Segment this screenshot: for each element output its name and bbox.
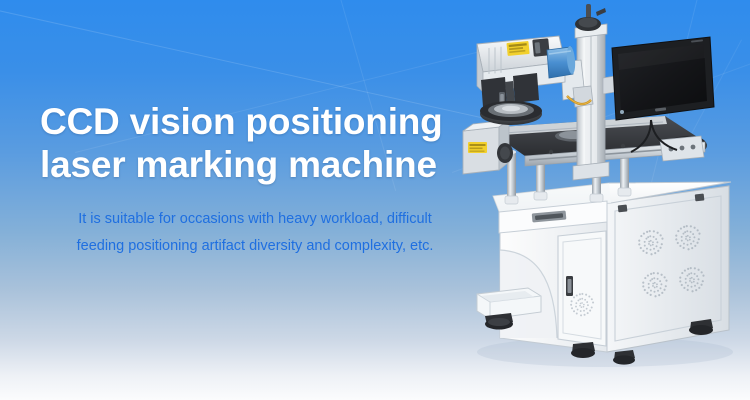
banner-subtitle-line-1: It is suitable for occasions with heavy …: [78, 211, 432, 227]
side-connector-a: [618, 204, 628, 212]
side-connector-b: [695, 193, 705, 201]
banner-title-line-1: CCD vision positioning: [40, 101, 443, 142]
galvanometer-lens: [547, 46, 576, 78]
banner-title: CCD vision positioninglaser marking mach…: [40, 100, 470, 186]
product-banner: CCD vision positioninglaser marking mach…: [0, 0, 750, 400]
banner-copy: CCD vision positioninglaser marking mach…: [40, 100, 470, 260]
focus-lens-disc: [480, 101, 542, 125]
ccd-vision-laser-marking-machine: [455, 0, 750, 400]
banner-title-line-2: laser marking machine: [40, 143, 470, 186]
banner-subtitle-line-2: feeding positioning artifact diversity a…: [40, 233, 470, 260]
banner-subtitle: It is suitable for occasions with heavy …: [40, 206, 470, 260]
conveyor-drive-motor: [463, 120, 513, 174]
cabinet-access-door: [558, 231, 606, 346]
laser-marking-head: [477, 36, 593, 125]
galvo-motor-y: [513, 73, 539, 103]
